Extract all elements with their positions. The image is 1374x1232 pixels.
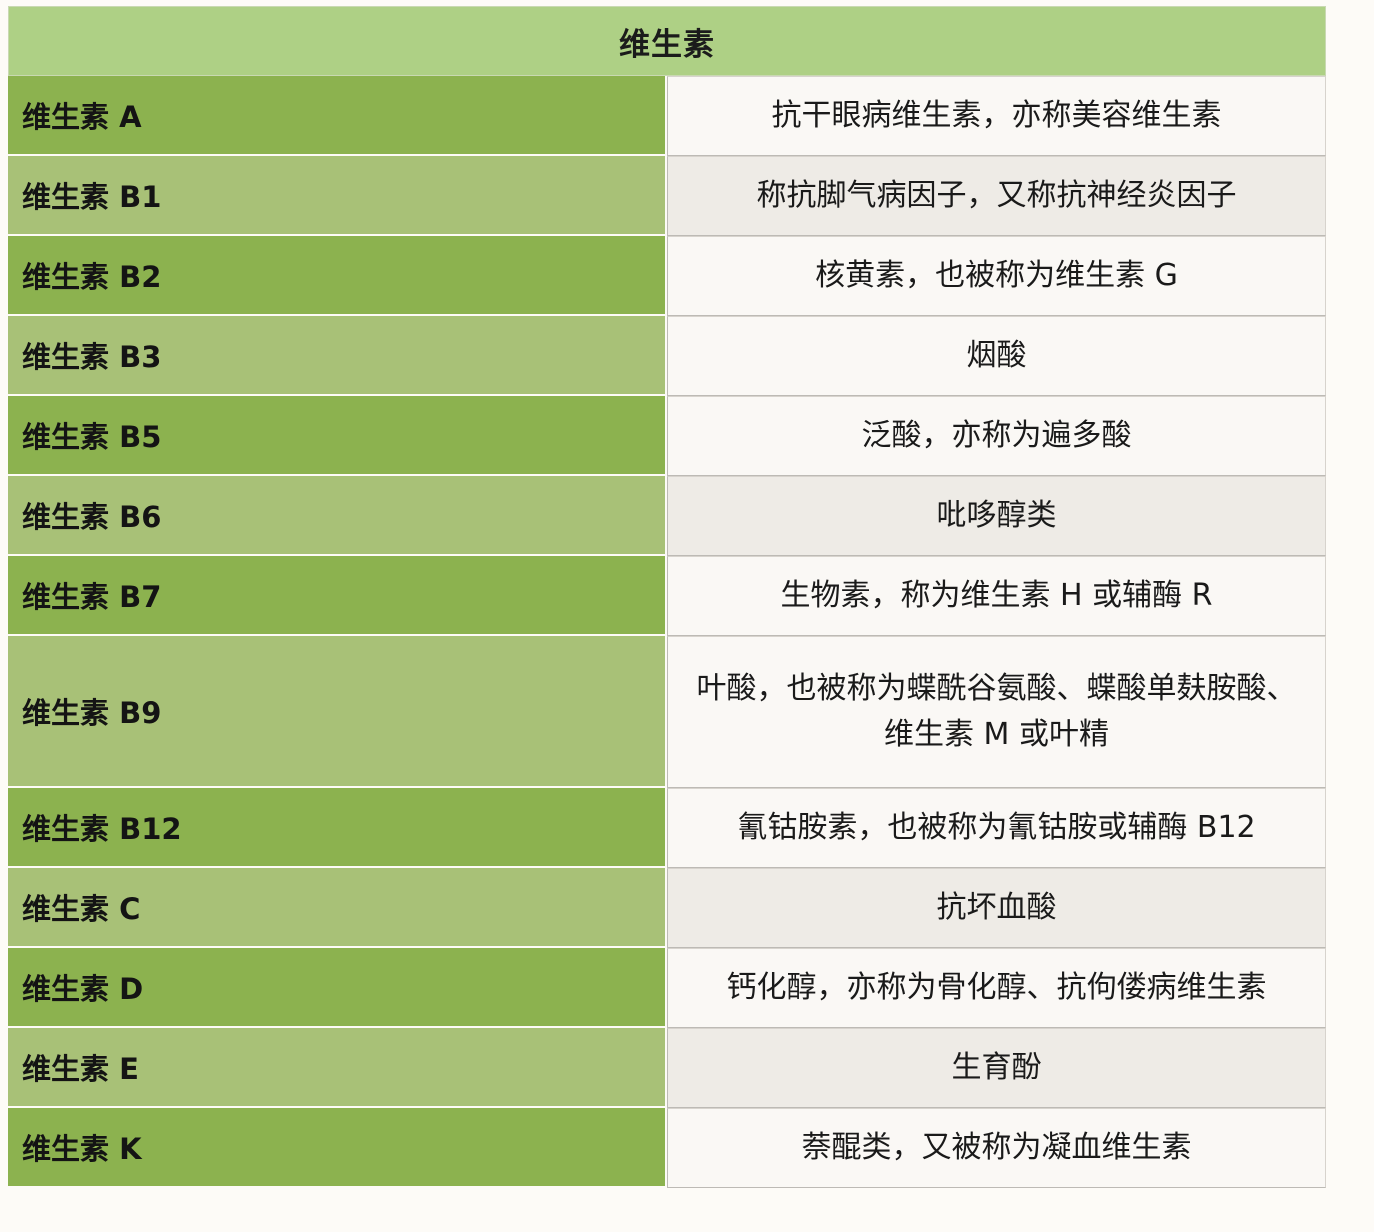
row-desc-vitamin-k: 萘醌类，又被称为凝血维生素 [667,1108,1326,1188]
row-desc-vitamin-b5: 泛酸，亦称为遍多酸 [667,396,1326,476]
row-desc-vitamin-d: 钙化醇，亦称为骨化醇、抗佝偻病维生素 [667,948,1326,1028]
row-desc-vitamin-e: 生育酚 [667,1028,1326,1108]
row-desc-vitamin-b12: 氰钴胺素，也被称为氰钴胺或辅酶 B12 [667,788,1326,868]
table-row: 维生素 A 抗干眼病维生素，亦称美容维生素 [8,76,1326,156]
row-label-vitamin-b6: 维生素 B6 [8,476,667,556]
row-desc-vitamin-b9: 叶酸，也被称为蝶酰谷氨酸、蝶酸单麸胺酸、维生素 M 或叶精 [667,636,1326,788]
table-row: 维生素 E 生育酚 [8,1028,1326,1108]
table-row: 维生素 B9 叶酸，也被称为蝶酰谷氨酸、蝶酸单麸胺酸、维生素 M 或叶精 [8,636,1326,788]
row-label-vitamin-e: 维生素 E [8,1028,667,1108]
row-label-vitamin-b5: 维生素 B5 [8,396,667,476]
table-body: 维生素 A 抗干眼病维生素，亦称美容维生素 维生素 B1 称抗脚气病因子，又称抗… [8,76,1326,1188]
row-label-vitamin-c: 维生素 C [8,868,667,948]
row-label-vitamin-b3: 维生素 B3 [8,316,667,396]
row-desc-vitamin-b3: 烟酸 [667,316,1326,396]
row-label-vitamin-d: 维生素 D [8,948,667,1028]
row-label-vitamin-b7: 维生素 B7 [8,556,667,636]
table-row: 维生素 K 萘醌类，又被称为凝血维生素 [8,1108,1326,1188]
row-desc-vitamin-b6: 吡哆醇类 [667,476,1326,556]
row-desc-vitamin-b1: 称抗脚气病因子，又称抗神经炎因子 [667,156,1326,236]
row-desc-vitamin-b2: 核黄素，也被称为维生素 G [667,236,1326,316]
row-desc-vitamin-b7: 生物素，称为维生素 H 或辅酶 R [667,556,1326,636]
table-row: 维生素 B5 泛酸，亦称为遍多酸 [8,396,1326,476]
table-row: 维生素 B1 称抗脚气病因子，又称抗神经炎因子 [8,156,1326,236]
row-label-vitamin-b9: 维生素 B9 [8,636,667,788]
table-header-row: 维生素 [8,6,1326,76]
table-row: 维生素 B3 烟酸 [8,316,1326,396]
table-row: 维生素 B6 吡哆醇类 [8,476,1326,556]
row-label-vitamin-b12: 维生素 B12 [8,788,667,868]
row-label-vitamin-b1: 维生素 B1 [8,156,667,236]
row-label-vitamin-k: 维生素 K [8,1108,667,1188]
table-title: 维生素 [8,6,1326,76]
table-row: 维生素 B12 氰钴胺素，也被称为氰钴胺或辅酶 B12 [8,788,1326,868]
table-row: 维生素 B2 核黄素，也被称为维生素 G [8,236,1326,316]
table-row: 维生素 D 钙化醇，亦称为骨化醇、抗佝偻病维生素 [8,948,1326,1028]
page-canvas: 维生素 维生素 A 抗干眼病维生素，亦称美容维生素 维生素 B1 称抗脚气病因子… [0,0,1374,1232]
table-head: 维生素 [8,6,1326,76]
table-row: 维生素 C 抗坏血酸 [8,868,1326,948]
row-label-vitamin-a: 维生素 A [8,76,667,156]
row-desc-vitamin-a: 抗干眼病维生素，亦称美容维生素 [667,76,1326,156]
row-label-vitamin-b2: 维生素 B2 [8,236,667,316]
row-desc-vitamin-c: 抗坏血酸 [667,868,1326,948]
vitamin-table: 维生素 维生素 A 抗干眼病维生素，亦称美容维生素 维生素 B1 称抗脚气病因子… [8,6,1326,1188]
table-row: 维生素 B7 生物素，称为维生素 H 或辅酶 R [8,556,1326,636]
